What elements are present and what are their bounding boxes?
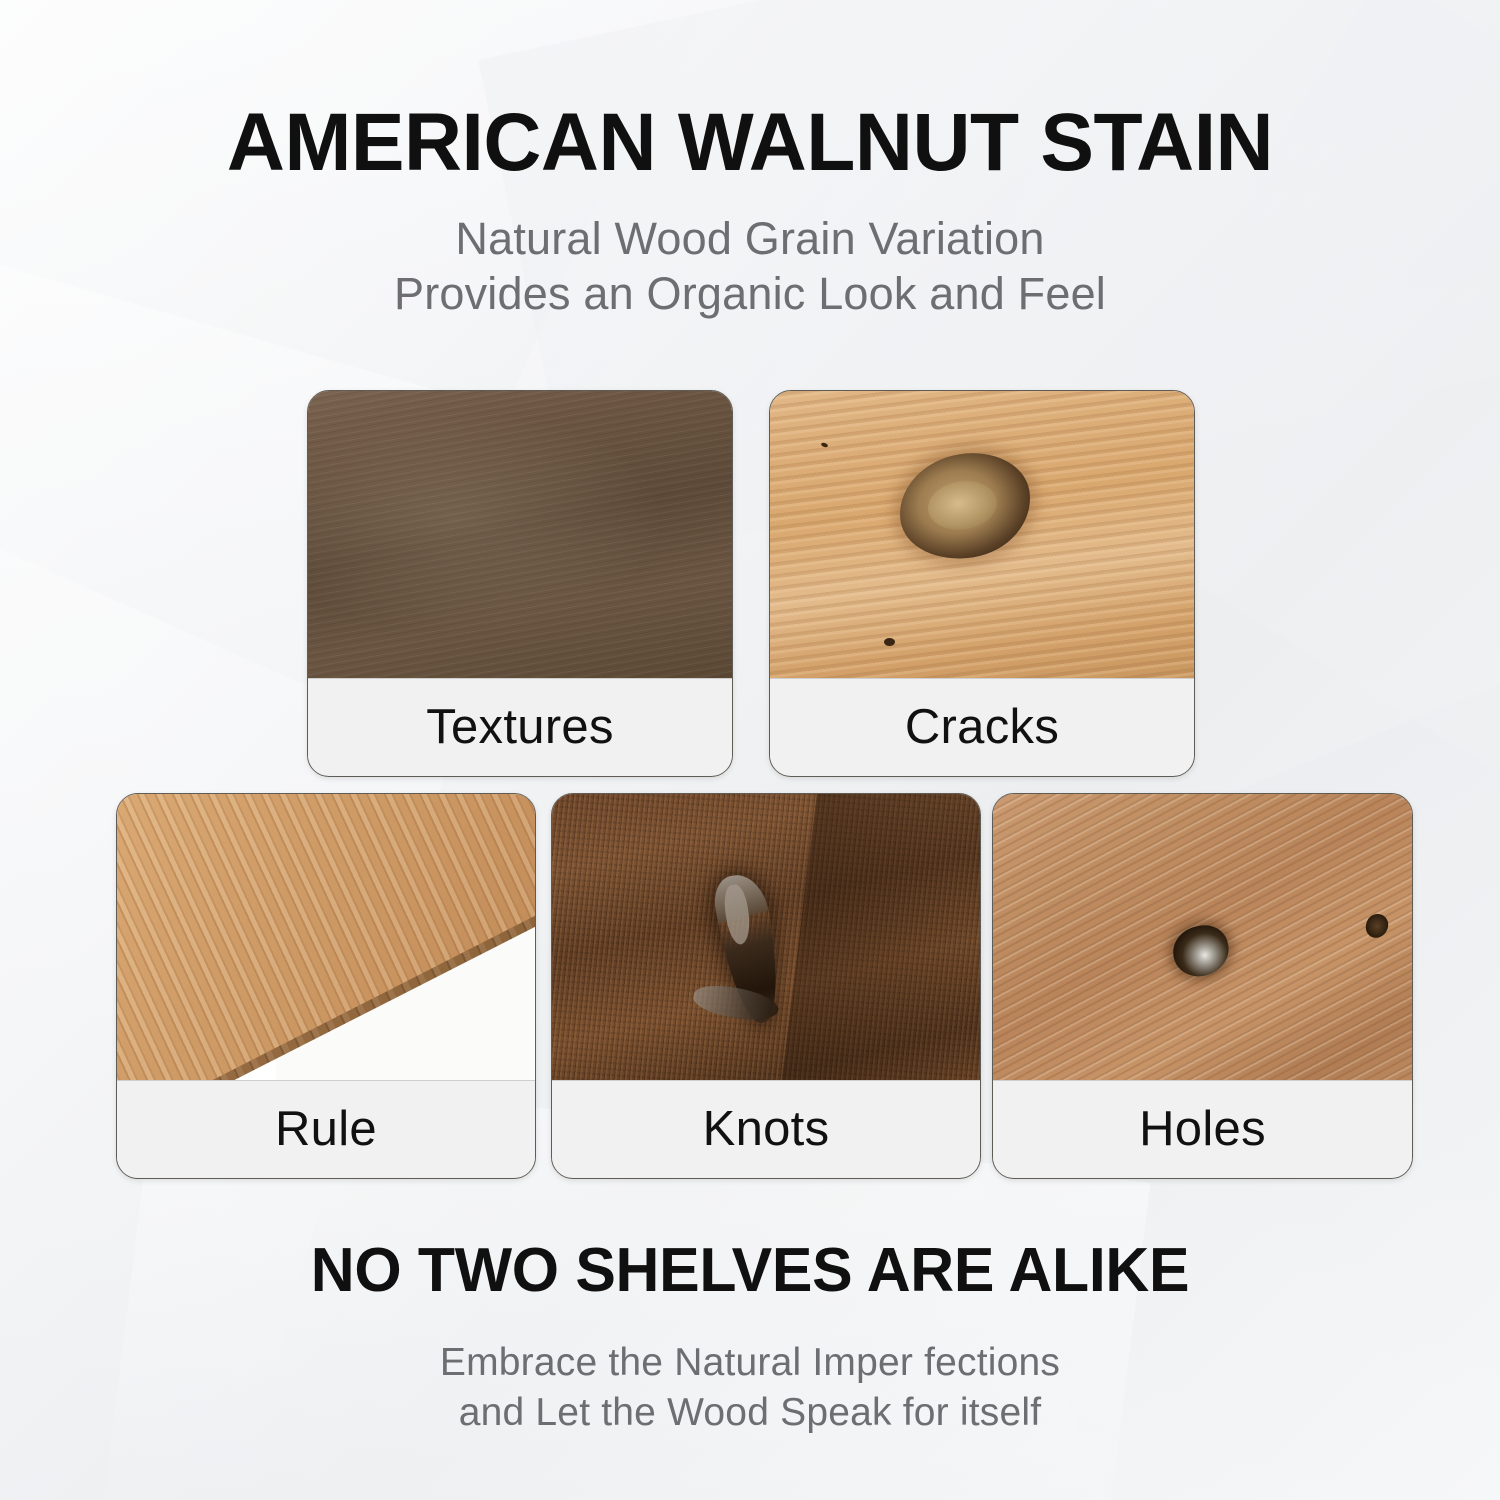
footer-subtitle-line-1: Embrace the Natural Imper fections: [0, 1338, 1500, 1388]
footer-block: NO TWO SHELVES ARE ALIKE Embrace the Nat…: [0, 1240, 1500, 1438]
feature-card-textures[interactable]: Textures: [307, 390, 733, 777]
card-image-textures: [308, 391, 732, 678]
wood-texture-pale-honey: [770, 391, 1194, 678]
card-label-rule: Rule: [275, 1101, 377, 1157]
card-label-knots: Knots: [703, 1101, 830, 1157]
surface-sheen: [308, 391, 732, 678]
footer-title: NO TWO SHELVES ARE ALIKE: [15, 1240, 1485, 1302]
footer-subtitle-line-2: and Let the Wood Speak for itself: [0, 1388, 1500, 1438]
card-caption-holes: Holes: [993, 1080, 1412, 1177]
header-block: AMERICAN WALNUT STAIN Natural Wood Grain…: [0, 104, 1500, 322]
card-label-textures: Textures: [426, 699, 614, 755]
card-image-holes: [993, 794, 1412, 1080]
card-caption-knots: Knots: [552, 1080, 980, 1177]
infographic-page: AMERICAN WALNUT STAIN Natural Wood Grain…: [0, 0, 1500, 1500]
wood-texture-light-plank: [117, 794, 535, 1080]
card-image-cracks: [770, 391, 1194, 678]
wood-texture-reddish-brown: [552, 794, 980, 1080]
page-title: AMERICAN WALNUT STAIN: [15, 104, 1485, 182]
card-caption-rule: Rule: [117, 1080, 535, 1177]
wood-texture-golden-brown: [993, 794, 1412, 1080]
wood-texture-dark-walnut: [308, 391, 732, 678]
feature-card-rule[interactable]: Rule: [116, 793, 536, 1179]
card-label-holes: Holes: [1139, 1101, 1266, 1157]
card-caption-cracks: Cracks: [770, 678, 1194, 775]
feature-card-knots[interactable]: Knots: [551, 793, 981, 1179]
card-caption-textures: Textures: [308, 678, 732, 775]
feature-card-cracks[interactable]: Cracks: [769, 390, 1195, 777]
card-label-cracks: Cracks: [905, 699, 1059, 755]
feature-card-holes[interactable]: Holes: [992, 793, 1413, 1179]
card-image-knots: [552, 794, 980, 1080]
page-subtitle-line-2: Provides an Organic Look and Feel: [0, 267, 1500, 322]
page-subtitle: Natural Wood Grain Variation Provides an…: [0, 212, 1500, 322]
page-subtitle-line-1: Natural Wood Grain Variation: [0, 212, 1500, 267]
footer-subtitle: Embrace the Natural Imper fections and L…: [0, 1338, 1500, 1438]
card-image-rule: [117, 794, 535, 1080]
